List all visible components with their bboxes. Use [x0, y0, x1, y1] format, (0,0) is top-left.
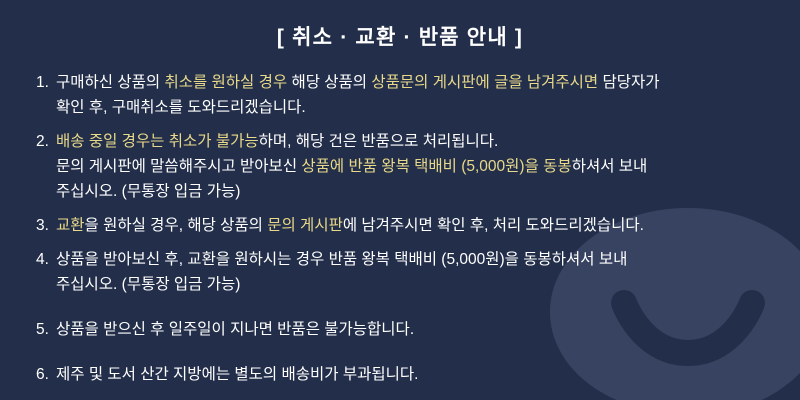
highlighted-text: 상품에 반품 왕복 택배비 (5,000원)을 동봉 [301, 158, 571, 175]
notice-item-body: 배송 중일 경우는 취소가 불가능하며, 해당 건은 반품으로 처리됩니다.문의… [56, 129, 784, 204]
notice-item-line: 확인 후, 구매취소를 도와드리겠습니다. [56, 95, 784, 120]
plain-text: 하며, 해당 건은 반품으로 처리됩니다. [259, 133, 499, 150]
notice-item-line: 교환을 원하실 경우, 해당 상품의 문의 게시판에 남겨주시면 확인 후, 처… [56, 213, 784, 238]
notice-item-number: 3. [36, 213, 49, 238]
notice-item-body: 상품을 받으신 후 일주일이 지나면 반품은 불가능합니다. [56, 317, 784, 342]
plain-text: 문의 게시판에 말씀해주시고 받아보신 [56, 158, 301, 175]
notice-item-line: 문의 게시판에 말씀해주시고 받아보신 상품에 반품 왕복 택배비 (5,000… [56, 154, 784, 179]
notice-item: 5.상품을 받으신 후 일주일이 지나면 반품은 불가능합니다. [0, 317, 800, 342]
plain-text: 주십시오. (무통장 입금 가능) [56, 276, 240, 293]
notice-item-list: 1.구매하신 상품의 취소를 원하실 경우 해당 상품의 상품문의 게시판에 글… [0, 70, 800, 387]
notice-item-number: 4. [36, 247, 49, 272]
cancellation-exchange-return-notice: [ 취소 · 교환 · 반품 안내 ] 1.구매하신 상품의 취소를 원하실 경… [0, 0, 800, 400]
notice-item: 1.구매하신 상품의 취소를 원하실 경우 해당 상품의 상품문의 게시판에 글… [0, 70, 800, 120]
plain-text: 담당자가 [598, 74, 659, 91]
notice-item-line: 구매하신 상품의 취소를 원하실 경우 해당 상품의 상품문의 게시판에 글을 … [56, 70, 784, 95]
plain-text: 상품을 받아보신 후, 교환을 원하시는 경우 반품 왕복 택배비 (5,000… [56, 251, 627, 268]
highlighted-text: 상품문의 게시판에 글을 남겨주시면 [371, 74, 598, 91]
notice-item-line: 상품을 받으신 후 일주일이 지나면 반품은 불가능합니다. [56, 317, 784, 342]
notice-item-body: 제주 및 도서 산간 지방에는 별도의 배송비가 부과됩니다. [56, 362, 784, 387]
plain-text: 주십시오. (무통장 입금 가능) [56, 183, 240, 200]
highlighted-text: 문의 게시판 [267, 217, 343, 234]
page-title: [ 취소 · 교환 · 반품 안내 ] [0, 0, 800, 48]
notice-item-line: 주십시오. (무통장 입금 가능) [56, 272, 784, 297]
plain-text: 해당 상품의 [287, 74, 371, 91]
highlighted-text: 배송 중일 경우는 취소가 불가능 [56, 133, 259, 150]
plain-text: 을 원하실 경우, 해당 상품의 [85, 217, 268, 234]
notice-item-line: 배송 중일 경우는 취소가 불가능하며, 해당 건은 반품으로 처리됩니다. [56, 129, 784, 154]
highlighted-text: 교환 [56, 217, 85, 234]
notice-item: 6.제주 및 도서 산간 지방에는 별도의 배송비가 부과됩니다. [0, 362, 800, 387]
notice-item: 3.교환을 원하실 경우, 해당 상품의 문의 게시판에 남겨주시면 확인 후,… [0, 213, 800, 238]
notice-item-body: 상품을 받아보신 후, 교환을 원하시는 경우 반품 왕복 택배비 (5,000… [56, 247, 784, 297]
plain-text: 상품을 받으신 후 일주일이 지나면 반품은 불가능합니다. [56, 321, 414, 338]
notice-item-number: 1. [36, 70, 49, 95]
notice-item: 4.상품을 받아보신 후, 교환을 원하시는 경우 반품 왕복 택배비 (5,0… [0, 247, 800, 297]
notice-item: 2.배송 중일 경우는 취소가 불가능하며, 해당 건은 반품으로 처리됩니다.… [0, 129, 800, 204]
notice-item-number: 2. [36, 129, 49, 154]
notice-item-body: 구매하신 상품의 취소를 원하실 경우 해당 상품의 상품문의 게시판에 글을 … [56, 70, 784, 120]
plain-text: 제주 및 도서 산간 지방에는 별도의 배송비가 부과됩니다. [56, 366, 418, 383]
highlighted-text: 취소를 원하실 경우 [164, 74, 287, 91]
plain-text: 에 남겨주시면 확인 후, 처리 도와드리겠습니다. [343, 217, 644, 234]
notice-item-number: 6. [36, 362, 49, 387]
notice-item-number: 5. [36, 317, 49, 342]
plain-text: 확인 후, 구매취소를 도와드리겠습니다. [56, 99, 306, 116]
notice-item-body: 교환을 원하실 경우, 해당 상품의 문의 게시판에 남겨주시면 확인 후, 처… [56, 213, 784, 238]
plain-text: 구매하신 상품의 [56, 74, 164, 91]
notice-item-line: 주십시오. (무통장 입금 가능) [56, 179, 784, 204]
notice-item-line: 제주 및 도서 산간 지방에는 별도의 배송비가 부과됩니다. [56, 362, 784, 387]
notice-content: [ 취소 · 교환 · 반품 안내 ] 1.구매하신 상품의 취소를 원하실 경… [0, 0, 800, 400]
plain-text: 하셔서 보내 [572, 158, 648, 175]
notice-item-line: 상품을 받아보신 후, 교환을 원하시는 경우 반품 왕복 택배비 (5,000… [56, 247, 784, 272]
